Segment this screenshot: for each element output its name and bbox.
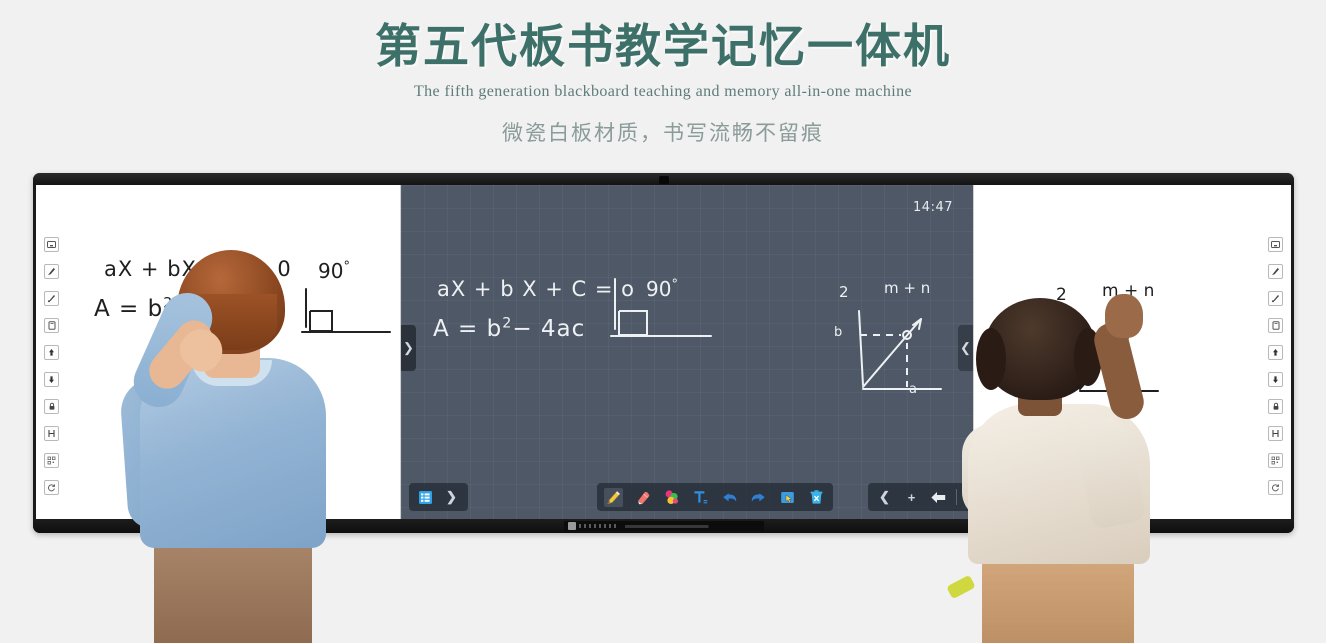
- refresh-icon[interactable]: [1268, 480, 1283, 495]
- whiteboard-toolbar: ❯: [401, 483, 973, 511]
- add-page-button[interactable]: +: [902, 488, 921, 507]
- brand-text: [625, 525, 764, 528]
- page-subtitle-cn: 微瓷白板材质，书写流畅不留痕: [0, 117, 1326, 147]
- device-brand-strip: [564, 521, 764, 531]
- delete-trash-icon[interactable]: [807, 488, 826, 507]
- undo-icon[interactable]: [720, 488, 739, 507]
- arrow-up-icon[interactable]: [1268, 345, 1283, 360]
- woman-head: [984, 298, 1096, 400]
- refresh-icon[interactable]: [44, 480, 59, 495]
- right-panel-toolbar[interactable]: [1268, 237, 1283, 495]
- woman-trousers: [982, 554, 1134, 643]
- lock-icon[interactable]: [1268, 399, 1283, 414]
- prev-page-button[interactable]: ❮: [875, 488, 894, 507]
- window-icon[interactable]: [44, 237, 59, 252]
- center-vector-diagram: [841, 305, 951, 405]
- eraser-tool-icon[interactable]: [633, 488, 652, 507]
- chevron-right-icon: ❯: [403, 340, 414, 356]
- split-screen-icon[interactable]: [44, 426, 59, 441]
- center-equation-line-2: A = b2− 4ac: [433, 315, 585, 342]
- menu-list-icon[interactable]: [416, 488, 435, 507]
- pen-tool-icon[interactable]: [604, 488, 623, 507]
- center-diagram-label-2: 2: [839, 283, 849, 301]
- man-trousers: [154, 538, 312, 643]
- page-title: 第五代板书教学记忆一体机: [0, 20, 1326, 73]
- toolbar-tools-group: [597, 483, 833, 511]
- redo-icon[interactable]: [749, 488, 768, 507]
- promo-page: 第五代板书教学记忆一体机 The fifth generation blackb…: [0, 0, 1326, 643]
- clock-display: 14:47: [913, 200, 953, 215]
- device-bezel-top: [33, 173, 1294, 185]
- pen-icon[interactable]: [44, 264, 59, 279]
- arrow-down-icon[interactable]: [1268, 372, 1283, 387]
- back-arrow-button[interactable]: [929, 488, 948, 507]
- text-tool-icon[interactable]: [691, 488, 710, 507]
- brand-logo: [568, 522, 576, 530]
- camera-icon: [659, 176, 669, 184]
- note-icon[interactable]: [1268, 318, 1283, 333]
- woman-marker-pen: [946, 575, 976, 600]
- select-tool-icon[interactable]: [778, 488, 797, 507]
- arrow-down-icon[interactable]: [44, 372, 59, 387]
- center-right-angle-diagram: [597, 277, 717, 357]
- brush-icon[interactable]: [44, 291, 59, 306]
- arrow-up-icon[interactable]: [44, 345, 59, 360]
- person-writing-right: [962, 288, 1162, 643]
- center-whiteboard-panel[interactable]: 14:47 aX + b X + C = o A = b2− 4ac 90° 2…: [401, 185, 973, 519]
- page-subtitle-en: The fifth generation blackboard teaching…: [0, 83, 1326, 101]
- window-icon[interactable]: [1268, 237, 1283, 252]
- pen-icon[interactable]: [1268, 264, 1283, 279]
- brush-icon[interactable]: [1268, 291, 1283, 306]
- color-palette-icon[interactable]: [662, 488, 681, 507]
- toolbar-separator: [956, 489, 957, 505]
- center-diagram-label-mn: m + n: [884, 279, 930, 297]
- page-header: 第五代板书教学记忆一体机 The fifth generation blackb…: [0, 0, 1326, 147]
- panel-expand-left-handle[interactable]: ❯: [401, 325, 416, 371]
- person-writing-left: [120, 228, 345, 643]
- lock-icon[interactable]: [44, 399, 59, 414]
- qr-code-icon[interactable]: [1268, 453, 1283, 468]
- toolbar-chevron-right-icon[interactable]: ❯: [442, 488, 461, 507]
- woman-hand: [1105, 294, 1143, 338]
- toolbar-left-group: ❯: [409, 483, 468, 511]
- split-screen-icon[interactable]: [1268, 426, 1283, 441]
- left-panel-toolbar[interactable]: [44, 237, 59, 495]
- qr-code-icon[interactable]: [44, 453, 59, 468]
- note-icon[interactable]: [44, 318, 59, 333]
